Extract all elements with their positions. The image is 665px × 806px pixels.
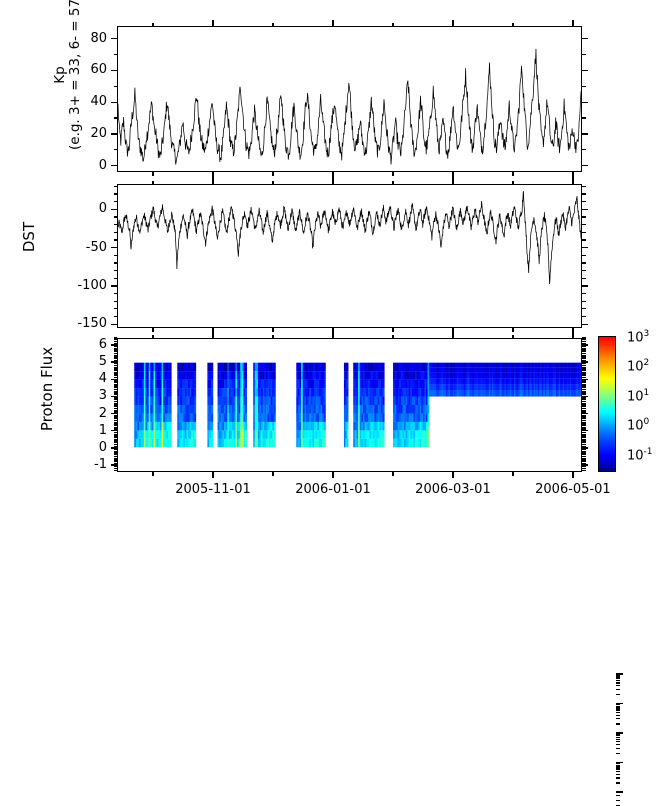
flux-ytick-right bbox=[582, 403, 586, 404]
flux-ytick-left bbox=[114, 351, 118, 352]
flux-ytick-left bbox=[111, 361, 117, 362]
flux-xtick-bottom bbox=[272, 472, 273, 476]
flux-cell bbox=[383, 371, 385, 379]
flux-ytick-left bbox=[114, 373, 118, 374]
flux-ytick-right bbox=[582, 365, 586, 366]
dst-ytick-right bbox=[582, 308, 586, 309]
flux-xtick-top bbox=[572, 332, 573, 338]
kp-xtick-top bbox=[572, 20, 573, 26]
flux-xtick-top bbox=[152, 335, 153, 339]
flux-ytick-right bbox=[582, 406, 586, 407]
flux-cell bbox=[170, 430, 172, 438]
flux-cell bbox=[347, 397, 349, 405]
dst-ytick-left bbox=[114, 239, 118, 240]
flux-ytick-right bbox=[582, 339, 586, 340]
colorbar-mantissa: 10 bbox=[627, 330, 644, 345]
kp-ytick-right bbox=[582, 117, 586, 118]
flux-ytick-left bbox=[114, 416, 118, 417]
flux-ytick-left bbox=[114, 394, 118, 395]
flux-ytick-left bbox=[114, 446, 118, 447]
colorbar-minor-tick bbox=[616, 712, 620, 713]
flux-cell bbox=[324, 430, 326, 438]
flux-cell bbox=[211, 380, 213, 388]
flux-ytick-right bbox=[582, 437, 586, 438]
dst-ytick-left bbox=[114, 301, 118, 302]
flux-ytick-left bbox=[114, 434, 118, 435]
flux-ytick-right bbox=[582, 355, 586, 356]
flux-ytick-right bbox=[582, 427, 586, 428]
colorbar-minor-tick bbox=[616, 735, 620, 736]
flux-xtick-top bbox=[212, 332, 213, 338]
flux-cell bbox=[347, 413, 349, 421]
flux-xtick-top bbox=[332, 332, 333, 338]
flux-ytick-left bbox=[111, 396, 117, 397]
kp-xtick-top bbox=[392, 23, 393, 27]
flux-cell bbox=[324, 422, 326, 430]
flux-cell bbox=[245, 397, 247, 405]
flux-ytick-right bbox=[582, 337, 586, 338]
flux-ytick-left bbox=[114, 463, 118, 464]
dst-xtick-bottom bbox=[152, 328, 153, 332]
flux-ytick-right bbox=[582, 454, 586, 455]
flux-cell bbox=[211, 430, 213, 438]
flux-ytick-right bbox=[582, 396, 588, 397]
flux-cell bbox=[383, 363, 385, 371]
flux-axis-title: Proton Flux bbox=[38, 347, 56, 431]
flux-ytick-right bbox=[582, 385, 586, 386]
flux-ytick-right bbox=[582, 439, 586, 440]
colorbar-minor-tick bbox=[616, 718, 620, 719]
colorbar-exponent: 1 bbox=[644, 388, 650, 398]
flux-cell bbox=[274, 397, 276, 405]
x-tick-label: 2006-01-01 bbox=[278, 483, 388, 496]
x-tick-label: 2006-03-01 bbox=[398, 483, 508, 496]
flux-ytick-left bbox=[111, 379, 117, 380]
dst-ytick-left bbox=[114, 278, 118, 279]
flux-ytick-right bbox=[582, 428, 586, 429]
flux-ytick-right bbox=[582, 459, 586, 460]
flux-cell bbox=[274, 371, 276, 379]
flux-ytick-right bbox=[582, 353, 586, 354]
flux-ytick-left bbox=[114, 343, 118, 344]
flux-ytick-left bbox=[114, 435, 118, 436]
colorbar-tick-label: 102 bbox=[627, 358, 649, 374]
flux-ytick-right bbox=[582, 351, 586, 352]
flux-ytick-left bbox=[114, 353, 118, 354]
dst-xtick-top bbox=[572, 178, 573, 184]
flux-cell bbox=[194, 371, 196, 379]
flux-ytick-left bbox=[114, 410, 118, 411]
colorbar-major-tick bbox=[616, 762, 623, 763]
flux-ytick-left bbox=[114, 389, 118, 390]
flux-ytick-left bbox=[114, 370, 118, 371]
kp-axis-title-line1: Kp bbox=[53, 0, 68, 150]
kp-axis-title: Kp (e.g. 3+ = 33, 6- = 57, 4 = 40, etc.) bbox=[53, 0, 83, 150]
dst-ytick-right bbox=[582, 216, 586, 217]
colorbar-minor-tick bbox=[616, 763, 620, 764]
flux-ytick-right bbox=[582, 449, 586, 450]
kp-ytick-right bbox=[582, 70, 588, 71]
flux-ytick-right bbox=[582, 360, 586, 361]
flux-ytick-left bbox=[114, 358, 118, 359]
flux-cell bbox=[428, 413, 430, 421]
kp-ytick-right bbox=[582, 102, 588, 103]
dst-ytick-right bbox=[582, 270, 586, 271]
flux-ytick-left bbox=[114, 440, 118, 441]
dst-ytick-left bbox=[114, 262, 118, 263]
dst-ytick-right bbox=[582, 255, 586, 256]
flux-cell bbox=[194, 405, 196, 413]
flux-ytick-right bbox=[582, 464, 588, 465]
flux-cell bbox=[383, 439, 385, 447]
flux-ytick-right bbox=[582, 440, 586, 441]
kp-xtick-top bbox=[452, 20, 453, 26]
dst-xtick-top bbox=[272, 181, 273, 185]
flux-cell bbox=[211, 405, 213, 413]
flux-ytick-right bbox=[582, 452, 586, 453]
flux-cell bbox=[324, 413, 326, 421]
flux-ytick-right bbox=[582, 432, 586, 433]
colorbar-tick-label: 10-1 bbox=[627, 447, 653, 463]
dst-ytick-left bbox=[114, 308, 118, 309]
flux-xtick-bottom bbox=[332, 472, 333, 478]
flux-ytick-right bbox=[582, 444, 586, 445]
dst-ytick-right bbox=[582, 201, 586, 202]
flux-cell bbox=[245, 371, 247, 379]
colorbar-minor-tick bbox=[616, 795, 620, 796]
kp-ytick-left bbox=[111, 133, 117, 134]
dst-ytick-right bbox=[582, 224, 586, 225]
dst-ytick-right bbox=[582, 301, 586, 302]
flux-ytick-left bbox=[114, 387, 118, 388]
kp-ytick-right bbox=[582, 86, 586, 87]
kp-xtick-top bbox=[332, 20, 333, 26]
kp-ytick-label: 0 bbox=[45, 159, 107, 172]
flux-cell bbox=[347, 405, 349, 413]
flux-cell bbox=[245, 422, 247, 430]
flux-ytick-right bbox=[582, 442, 586, 443]
flux-xtick-top bbox=[392, 335, 393, 339]
colorbar-tick-label: 101 bbox=[627, 388, 649, 404]
panel-dst bbox=[117, 184, 582, 328]
flux-ytick-left bbox=[114, 337, 118, 338]
flux-ytick-right bbox=[582, 356, 586, 357]
flux-cell bbox=[347, 371, 349, 379]
colorbar-minor-tick bbox=[616, 768, 620, 769]
kp-xtick-bottom bbox=[392, 172, 393, 176]
flux-ytick-left bbox=[114, 382, 118, 383]
flux-ytick-left bbox=[114, 451, 118, 452]
flux-cell bbox=[324, 371, 326, 379]
dst-ytick-label: -100 bbox=[45, 279, 107, 292]
flux-ytick-left bbox=[114, 411, 118, 412]
flux-ytick-left bbox=[114, 365, 118, 366]
flux-ytick-left bbox=[114, 454, 118, 455]
flux-cell bbox=[211, 363, 213, 371]
flux-cell bbox=[383, 413, 385, 421]
flux-ytick-right bbox=[582, 368, 586, 369]
flux-xtick-top bbox=[452, 332, 453, 338]
colorbar-minor-tick bbox=[616, 771, 620, 772]
kp-ytick-right bbox=[582, 133, 588, 134]
flux-cell bbox=[347, 439, 349, 447]
flux-ytick-right bbox=[582, 348, 586, 349]
colorbar-minor-tick bbox=[616, 766, 620, 767]
colorbar-mantissa: 10 bbox=[627, 419, 644, 434]
colorbar-minor-tick bbox=[616, 737, 620, 738]
dst-ytick-right bbox=[582, 209, 588, 210]
flux-cell bbox=[194, 422, 196, 430]
colorbar-exponent: -1 bbox=[644, 447, 653, 457]
flux-ytick-right bbox=[582, 466, 586, 467]
colorbar-minor-tick bbox=[616, 748, 620, 749]
flux-ytick-left bbox=[114, 377, 118, 378]
dst-ytick-left bbox=[114, 186, 118, 187]
flux-cell bbox=[170, 397, 172, 405]
flux-ytick-right bbox=[582, 463, 586, 464]
flux-cell bbox=[383, 397, 385, 405]
flux-cell bbox=[274, 380, 276, 388]
dst-xtick-top bbox=[512, 181, 513, 185]
dst-ytick-label: -50 bbox=[45, 241, 107, 254]
colorbar-minor-tick bbox=[616, 774, 620, 775]
flux-cell bbox=[324, 397, 326, 405]
kp-xtick-bottom bbox=[512, 172, 513, 176]
colorbar-major-tick bbox=[616, 732, 623, 733]
flux-cell bbox=[245, 439, 247, 447]
flux-cell bbox=[245, 380, 247, 388]
flux-cell bbox=[580, 391, 581, 397]
kp-series-plot bbox=[118, 27, 581, 171]
flux-ytick-right bbox=[582, 341, 586, 342]
flux-ytick-left bbox=[114, 437, 118, 438]
flux-cell bbox=[324, 380, 326, 388]
flux-ytick-left bbox=[114, 360, 118, 361]
flux-ytick-right bbox=[582, 434, 586, 435]
dst-ytick-left bbox=[114, 224, 118, 225]
flux-cell bbox=[211, 439, 213, 447]
colorbar-minor-tick bbox=[616, 706, 620, 707]
dst-ytick-left bbox=[111, 209, 117, 210]
flux-cell bbox=[347, 388, 349, 396]
dst-ytick-right bbox=[582, 186, 586, 187]
flux-cell bbox=[580, 368, 581, 373]
flux-ytick-left bbox=[114, 391, 118, 392]
flux-ytick-left bbox=[114, 466, 118, 467]
dst-ytick-right bbox=[582, 262, 586, 263]
flux-cell bbox=[383, 430, 385, 438]
flux-cell bbox=[324, 439, 326, 447]
panel-kp bbox=[117, 26, 582, 172]
flux-cell bbox=[245, 413, 247, 421]
flux-cell bbox=[170, 371, 172, 379]
flux-ytick-left bbox=[114, 355, 118, 356]
flux-ytick-right bbox=[582, 416, 586, 417]
kp-axis-title-line2: (e.g. 3+ = 33, 6- = 57, 4 = 40, etc.) bbox=[68, 0, 83, 150]
flux-ytick-right bbox=[582, 391, 586, 392]
data-trace bbox=[118, 49, 581, 165]
flux-ytick-left bbox=[114, 372, 118, 373]
flux-xtick-top bbox=[272, 335, 273, 339]
proton-flux-spectrogram bbox=[118, 339, 581, 471]
flux-ytick-right bbox=[582, 447, 588, 448]
flux-cell bbox=[324, 363, 326, 371]
colorbar-minor-tick bbox=[616, 675, 620, 676]
flux-ytick-left bbox=[114, 339, 118, 340]
colorbar-minor-tick bbox=[616, 734, 620, 735]
flux-cell bbox=[170, 380, 172, 388]
flux-xtick-bottom bbox=[392, 472, 393, 476]
flux-ytick-left bbox=[114, 432, 118, 433]
flux-ytick-right bbox=[582, 446, 586, 447]
flux-ytick-left bbox=[114, 452, 118, 453]
flux-cell bbox=[194, 388, 196, 396]
flux-ytick-right bbox=[582, 363, 586, 364]
flux-cell bbox=[170, 388, 172, 396]
flux-ytick-right bbox=[582, 382, 586, 383]
flux-cell bbox=[383, 388, 385, 396]
dst-ytick-left bbox=[111, 324, 117, 325]
kp-xtick-top bbox=[212, 20, 213, 26]
flux-ytick-left bbox=[114, 415, 118, 416]
flux-xtick-top bbox=[512, 335, 513, 339]
x-tick-label: 2006-05-01 bbox=[518, 483, 628, 496]
colorbar-minor-tick bbox=[616, 709, 620, 710]
flux-ytick-left bbox=[114, 399, 118, 400]
flux-ytick-right bbox=[582, 399, 586, 400]
flux-cell bbox=[347, 422, 349, 430]
flux-cell bbox=[324, 405, 326, 413]
dst-ytick-right bbox=[582, 316, 586, 317]
colorbar-minor-tick bbox=[616, 744, 620, 745]
flux-ytick-left bbox=[114, 392, 118, 393]
colorbar-mantissa: 10 bbox=[627, 360, 644, 375]
kp-ytick-left bbox=[111, 102, 117, 103]
dst-ytick-left bbox=[114, 216, 118, 217]
flux-ytick-left bbox=[114, 349, 118, 350]
dst-ytick-left bbox=[114, 193, 118, 194]
flux-ytick-left bbox=[111, 464, 117, 465]
colorbar-ticks bbox=[616, 336, 626, 472]
flux-cell bbox=[170, 422, 172, 430]
dst-ytick-left bbox=[114, 293, 118, 294]
kp-ytick-right bbox=[582, 38, 588, 39]
dst-ytick-right bbox=[582, 285, 588, 286]
flux-ytick-left bbox=[114, 444, 118, 445]
flux-cell bbox=[170, 405, 172, 413]
flux-ytick-right bbox=[582, 358, 586, 359]
dst-axis-title: DST bbox=[20, 222, 38, 252]
dst-ytick-right bbox=[582, 278, 586, 279]
flux-cell bbox=[347, 363, 349, 371]
colorbar-minor-tick bbox=[616, 782, 620, 783]
kp-ytick-right bbox=[582, 165, 588, 166]
colorbar-tick-label: 100 bbox=[627, 417, 649, 433]
flux-ytick-right bbox=[582, 372, 586, 373]
flux-xtick-bottom bbox=[212, 472, 213, 478]
flux-ytick-right bbox=[582, 468, 586, 469]
flux-ytick-left bbox=[114, 423, 118, 424]
kp-ytick-right bbox=[582, 149, 586, 150]
dst-ytick-left bbox=[111, 247, 117, 248]
kp-ytick-left bbox=[111, 70, 117, 71]
flux-ytick-left bbox=[114, 428, 118, 429]
flux-ytick-left bbox=[114, 401, 118, 402]
dst-ytick-right bbox=[582, 247, 588, 248]
flux-ytick-label: 0 bbox=[45, 441, 107, 454]
colorbar-minor-tick bbox=[616, 739, 620, 740]
flux-cell bbox=[194, 380, 196, 388]
colorbar-minor-tick bbox=[616, 741, 620, 742]
flux-cell bbox=[245, 430, 247, 438]
flux-ytick-left bbox=[114, 461, 118, 462]
flux-ytick-left bbox=[114, 458, 118, 459]
flux-cell bbox=[580, 385, 581, 391]
colorbar-minor-tick bbox=[616, 680, 620, 681]
flux-cell bbox=[580, 379, 581, 385]
kp-ytick-left bbox=[114, 117, 118, 118]
flux-cell bbox=[194, 397, 196, 405]
flux-ytick-right bbox=[582, 470, 586, 471]
dst-ytick-left bbox=[114, 270, 118, 271]
kp-ytick-left bbox=[111, 38, 117, 39]
flux-ytick-label: -1 bbox=[45, 458, 107, 471]
flux-ytick-right bbox=[582, 451, 586, 452]
colorbar-mantissa: 10 bbox=[627, 389, 644, 404]
dst-ytick-left bbox=[111, 285, 117, 286]
dst-xtick-top bbox=[212, 178, 213, 184]
dst-series-plot bbox=[118, 185, 581, 327]
flux-cell bbox=[245, 388, 247, 396]
colorbar-minor-tick bbox=[616, 723, 620, 724]
flux-ytick-left bbox=[111, 447, 117, 448]
dst-xtick-top bbox=[392, 181, 393, 185]
flux-ytick-left bbox=[114, 439, 118, 440]
flux-ytick-right bbox=[582, 343, 586, 344]
flux-ytick-right bbox=[582, 415, 586, 416]
flux-ytick-left bbox=[114, 420, 118, 421]
dst-ytick-right bbox=[582, 193, 586, 194]
colorbar bbox=[598, 336, 616, 472]
dst-ytick-left bbox=[114, 316, 118, 317]
flux-ytick-right bbox=[582, 370, 586, 371]
colorbar-minor-tick bbox=[616, 678, 620, 679]
flux-ytick-right bbox=[582, 411, 586, 412]
flux-ytick-left bbox=[114, 442, 118, 443]
flux-xtick-bottom bbox=[452, 472, 453, 478]
dst-xtick-bottom bbox=[392, 328, 393, 332]
flux-ytick-right bbox=[582, 404, 586, 405]
flux-xtick-bottom bbox=[512, 472, 513, 476]
dst-xtick-top bbox=[452, 178, 453, 184]
flux-ytick-left bbox=[114, 470, 118, 471]
flux-ytick-right bbox=[582, 401, 586, 402]
flux-ytick-right bbox=[582, 344, 588, 345]
flux-cell bbox=[347, 430, 349, 438]
flux-cell bbox=[194, 413, 196, 421]
flux-ytick-left bbox=[114, 363, 118, 364]
flux-ytick-right bbox=[582, 389, 586, 390]
dst-ytick-left bbox=[114, 255, 118, 256]
colorbar-minor-tick bbox=[616, 685, 620, 686]
flux-ytick-right bbox=[582, 456, 586, 457]
colorbar-exponent: 3 bbox=[644, 329, 650, 339]
dst-xtick-top bbox=[152, 181, 153, 185]
dst-ytick-right bbox=[582, 232, 586, 233]
flux-ytick-left bbox=[114, 468, 118, 469]
kp-xtick-top bbox=[152, 23, 153, 27]
colorbar-minor-tick bbox=[616, 676, 620, 677]
